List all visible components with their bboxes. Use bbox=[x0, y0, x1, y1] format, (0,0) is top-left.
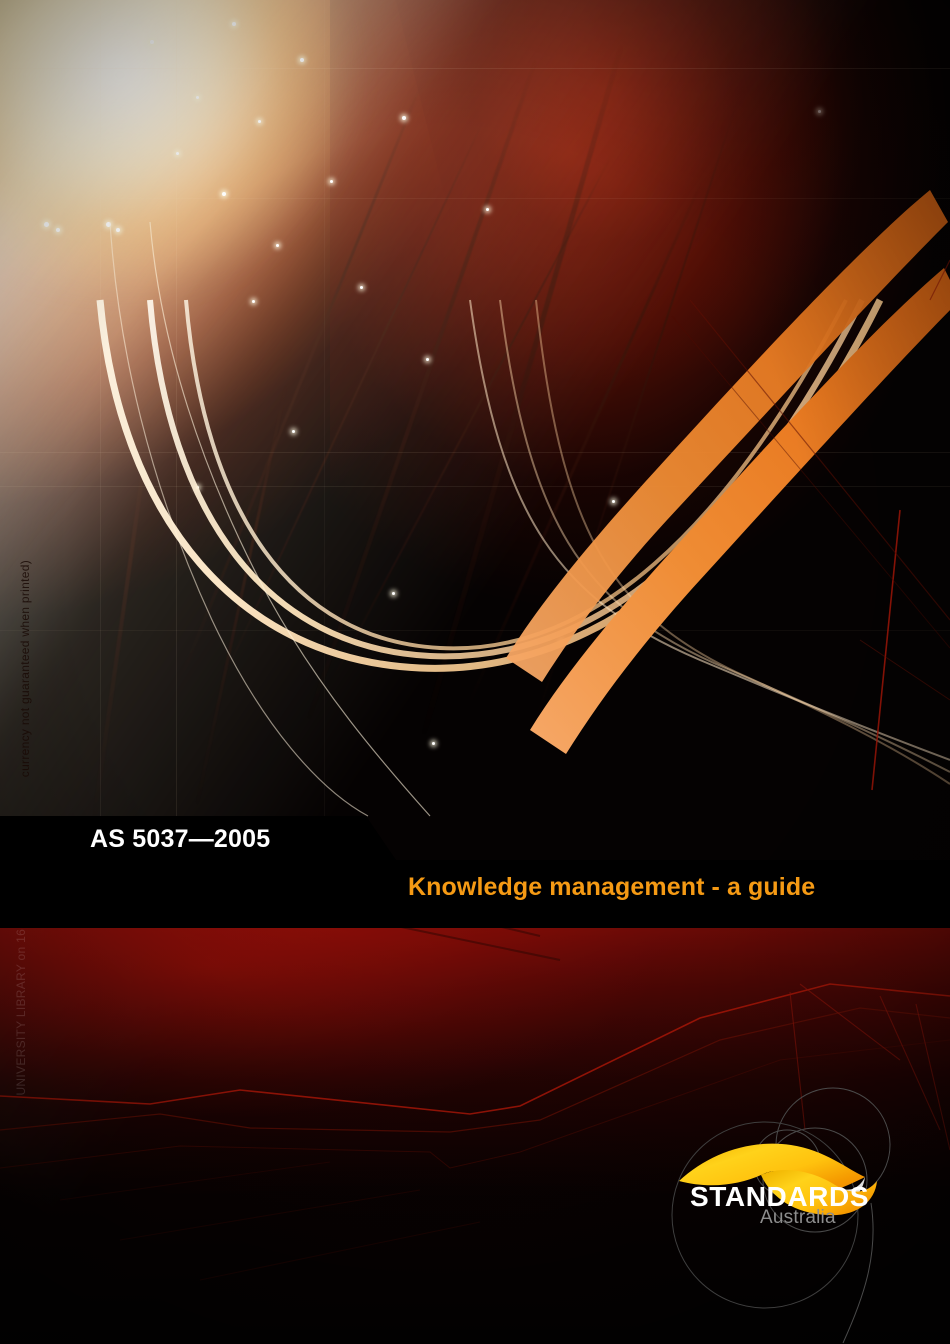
watermark-text-bottom: UNIVERSITY LIBRARY on 16 Ju bbox=[14, 912, 28, 1096]
logo-subtext: Australia bbox=[760, 1207, 836, 1229]
standards-australia-logo: STANDARDS Australia bbox=[665, 1085, 950, 1344]
document-cover-page: currency not guaranteed when printed) UN… bbox=[0, 0, 950, 1344]
page-title: Knowledge management - a guide bbox=[408, 873, 815, 902]
standard-number: AS 5037—2005 bbox=[90, 825, 270, 854]
watermark-text-top: currency not guaranteed when printed) bbox=[18, 560, 32, 777]
